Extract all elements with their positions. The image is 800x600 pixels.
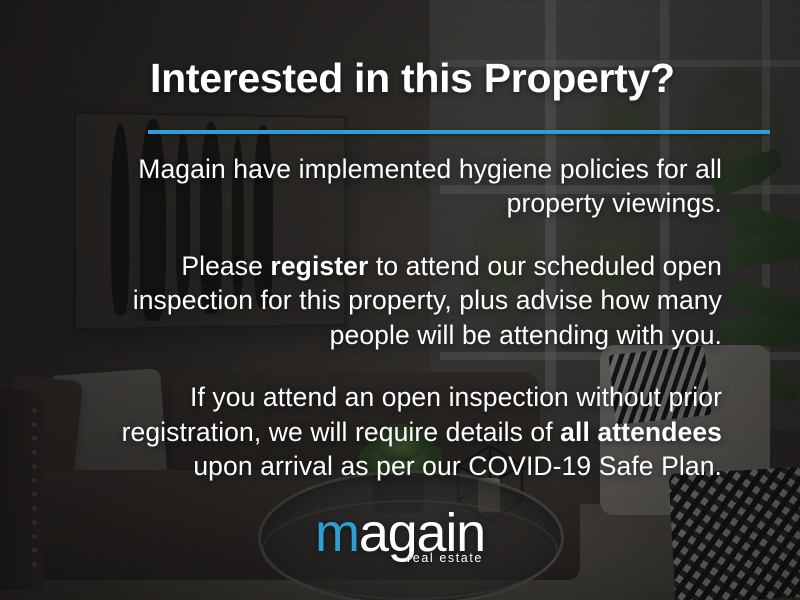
- accent-divider: [148, 130, 770, 134]
- notice-body: Magain have implemented hygiene policies…: [80, 152, 722, 484]
- register-emphasis: register: [270, 251, 368, 281]
- paragraph-2-lead: Please: [181, 251, 270, 281]
- page-title: Interested in this Property?: [150, 57, 770, 100]
- notice-paragraph-1: Magain have implemented hygiene policies…: [80, 152, 722, 221]
- magain-logo: magain real estate: [0, 506, 800, 560]
- notice-paragraph-2: Please register to attend our scheduled …: [80, 249, 722, 352]
- all-attendees-emphasis: all attendees: [560, 417, 722, 447]
- logo-tagline: real estate: [407, 552, 483, 565]
- paragraph-3-tail: upon arrival as per our COVID-19 Safe Pl…: [193, 451, 722, 481]
- logo-initial-m: m: [315, 503, 359, 563]
- notice-paragraph-3: If you attend an open inspection without…: [80, 380, 722, 483]
- slide-content: Interested in this Property? Magain have…: [0, 0, 800, 600]
- paragraph-1-text: Magain have implemented hygiene policies…: [138, 154, 722, 218]
- property-viewing-notice-slide: Interested in this Property? Magain have…: [0, 0, 800, 600]
